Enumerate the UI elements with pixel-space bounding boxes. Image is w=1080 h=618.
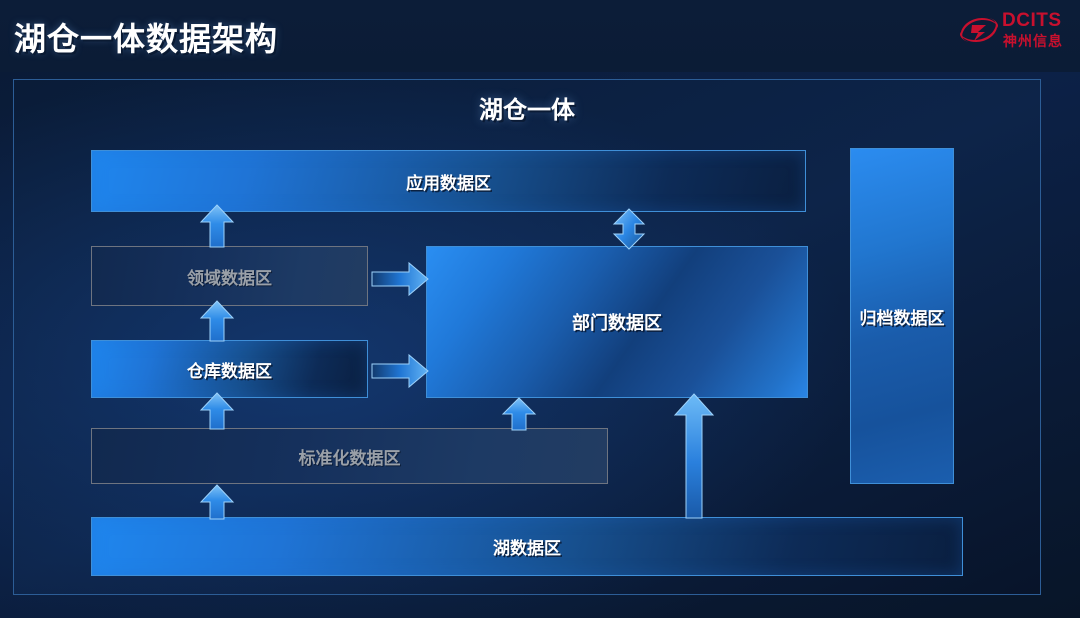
- page-title: 湖仓一体数据架构: [14, 14, 278, 60]
- company-logo: DCITS 神州信息: [958, 9, 1068, 55]
- dcits-swirl-logo-icon: [958, 13, 1000, 47]
- slide-canvas: 湖仓一体数据架构 DCITS 神州信息 湖仓一体 应用数据区: [0, 0, 1080, 618]
- zone-warehouse-data[interactable]: 仓库数据区: [91, 340, 368, 398]
- logo-wordmark: DCITS: [1002, 10, 1062, 32]
- logo-chinese-name: 神州信息: [1003, 31, 1063, 51]
- zone-archive-data[interactable]: 归档数据区: [850, 148, 954, 484]
- zone-department-data[interactable]: 部门数据区: [426, 246, 808, 398]
- slide-header: 湖仓一体数据架构 DCITS 神州信息: [0, 0, 1080, 72]
- zone-label: 仓库数据区: [187, 357, 272, 382]
- arrow-warehouse-to-department-icon: [371, 353, 429, 389]
- arrow-domain-to-department-icon: [371, 261, 429, 297]
- zone-label: 归档数据区: [860, 304, 945, 329]
- arrow-department-to-application-bidirectional-icon: [608, 208, 650, 250]
- diagram-panel: 湖仓一体 应用数据区 领域数据区 仓库数据区 标准化数据区 湖数据区 部门数据区…: [13, 79, 1041, 595]
- arrow-domain-to-application-icon: [199, 204, 235, 248]
- zone-label: 标准化数据区: [299, 444, 401, 469]
- arrow-warehouse-to-domain-icon: [199, 300, 235, 342]
- zone-domain-data[interactable]: 领域数据区: [91, 246, 368, 306]
- zone-label: 部门数据区: [572, 309, 662, 335]
- zone-label: 应用数据区: [406, 169, 491, 194]
- arrow-lake-to-department-icon: [673, 393, 715, 519]
- zone-label: 湖数据区: [493, 534, 561, 559]
- arrow-lake-to-standardized-icon: [199, 484, 235, 520]
- arrow-standardized-to-warehouse-icon: [199, 392, 235, 430]
- zone-standardized-data[interactable]: 标准化数据区: [91, 428, 608, 484]
- arrow-standardized-to-department-icon: [501, 397, 537, 431]
- diagram-title: 湖仓一体: [14, 90, 1040, 125]
- zone-application-data[interactable]: 应用数据区: [91, 150, 806, 212]
- zone-label: 领域数据区: [187, 264, 272, 289]
- zone-lake-data[interactable]: 湖数据区: [91, 517, 963, 576]
